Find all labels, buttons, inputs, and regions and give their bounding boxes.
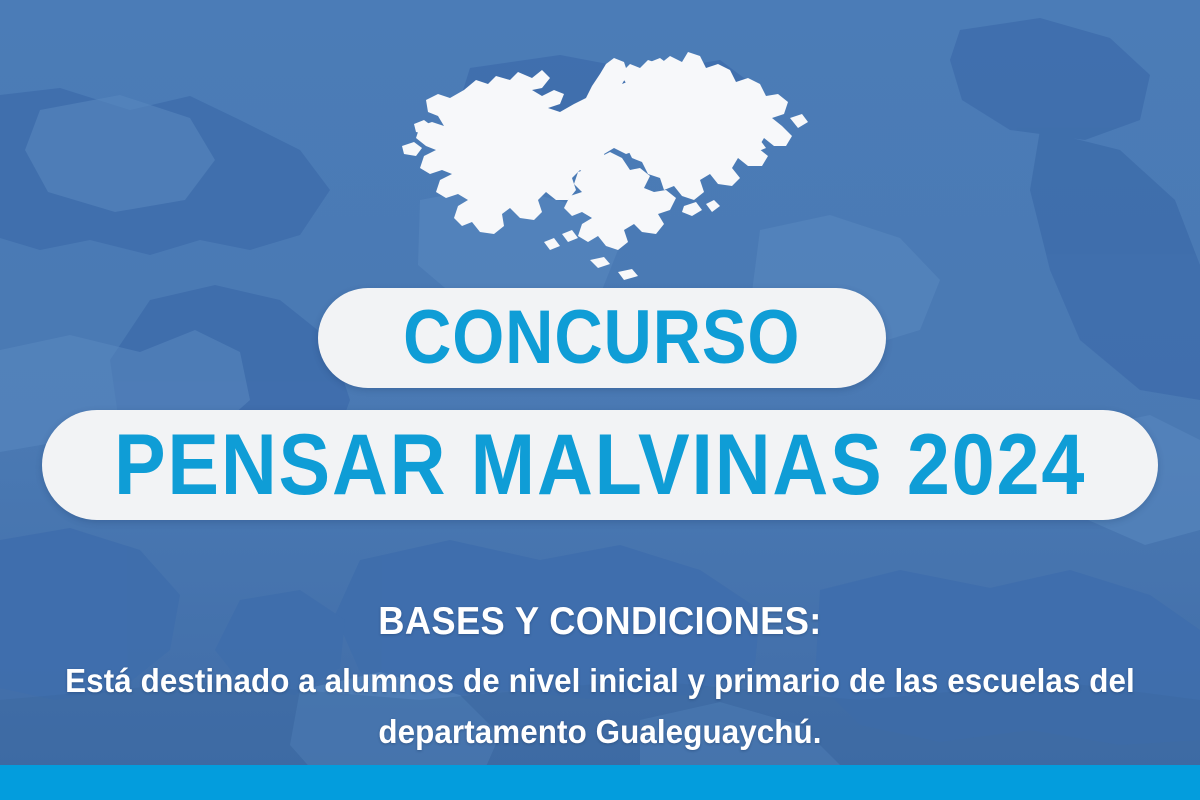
title-pill-pensar-malvinas: PENSAR MALVINAS 2024 <box>42 410 1158 520</box>
title-line-1: CONCURSO <box>403 300 800 376</box>
terms-heading: BASES Y CONDICIONES: <box>42 600 1158 644</box>
title-line-2: PENSAR MALVINAS 2024 <box>114 422 1086 508</box>
terms-block: BASES Y CONDICIONES: Está destinado a al… <box>0 600 1200 757</box>
terms-body-line-2: departamento Gualeguaychú. <box>30 706 1170 757</box>
bottom-accent-bar <box>0 765 1200 800</box>
malvinas-map <box>392 28 816 286</box>
title-pill-concurso: CONCURSO <box>318 288 886 388</box>
terms-body: Está destinado a alumnos de nivel inicia… <box>30 655 1170 757</box>
terms-body-line-1: Está destinado a alumnos de nivel inicia… <box>30 655 1170 706</box>
poster-canvas: CONCURSO PENSAR MALVINAS 2024 BASES Y CO… <box>0 0 1200 800</box>
